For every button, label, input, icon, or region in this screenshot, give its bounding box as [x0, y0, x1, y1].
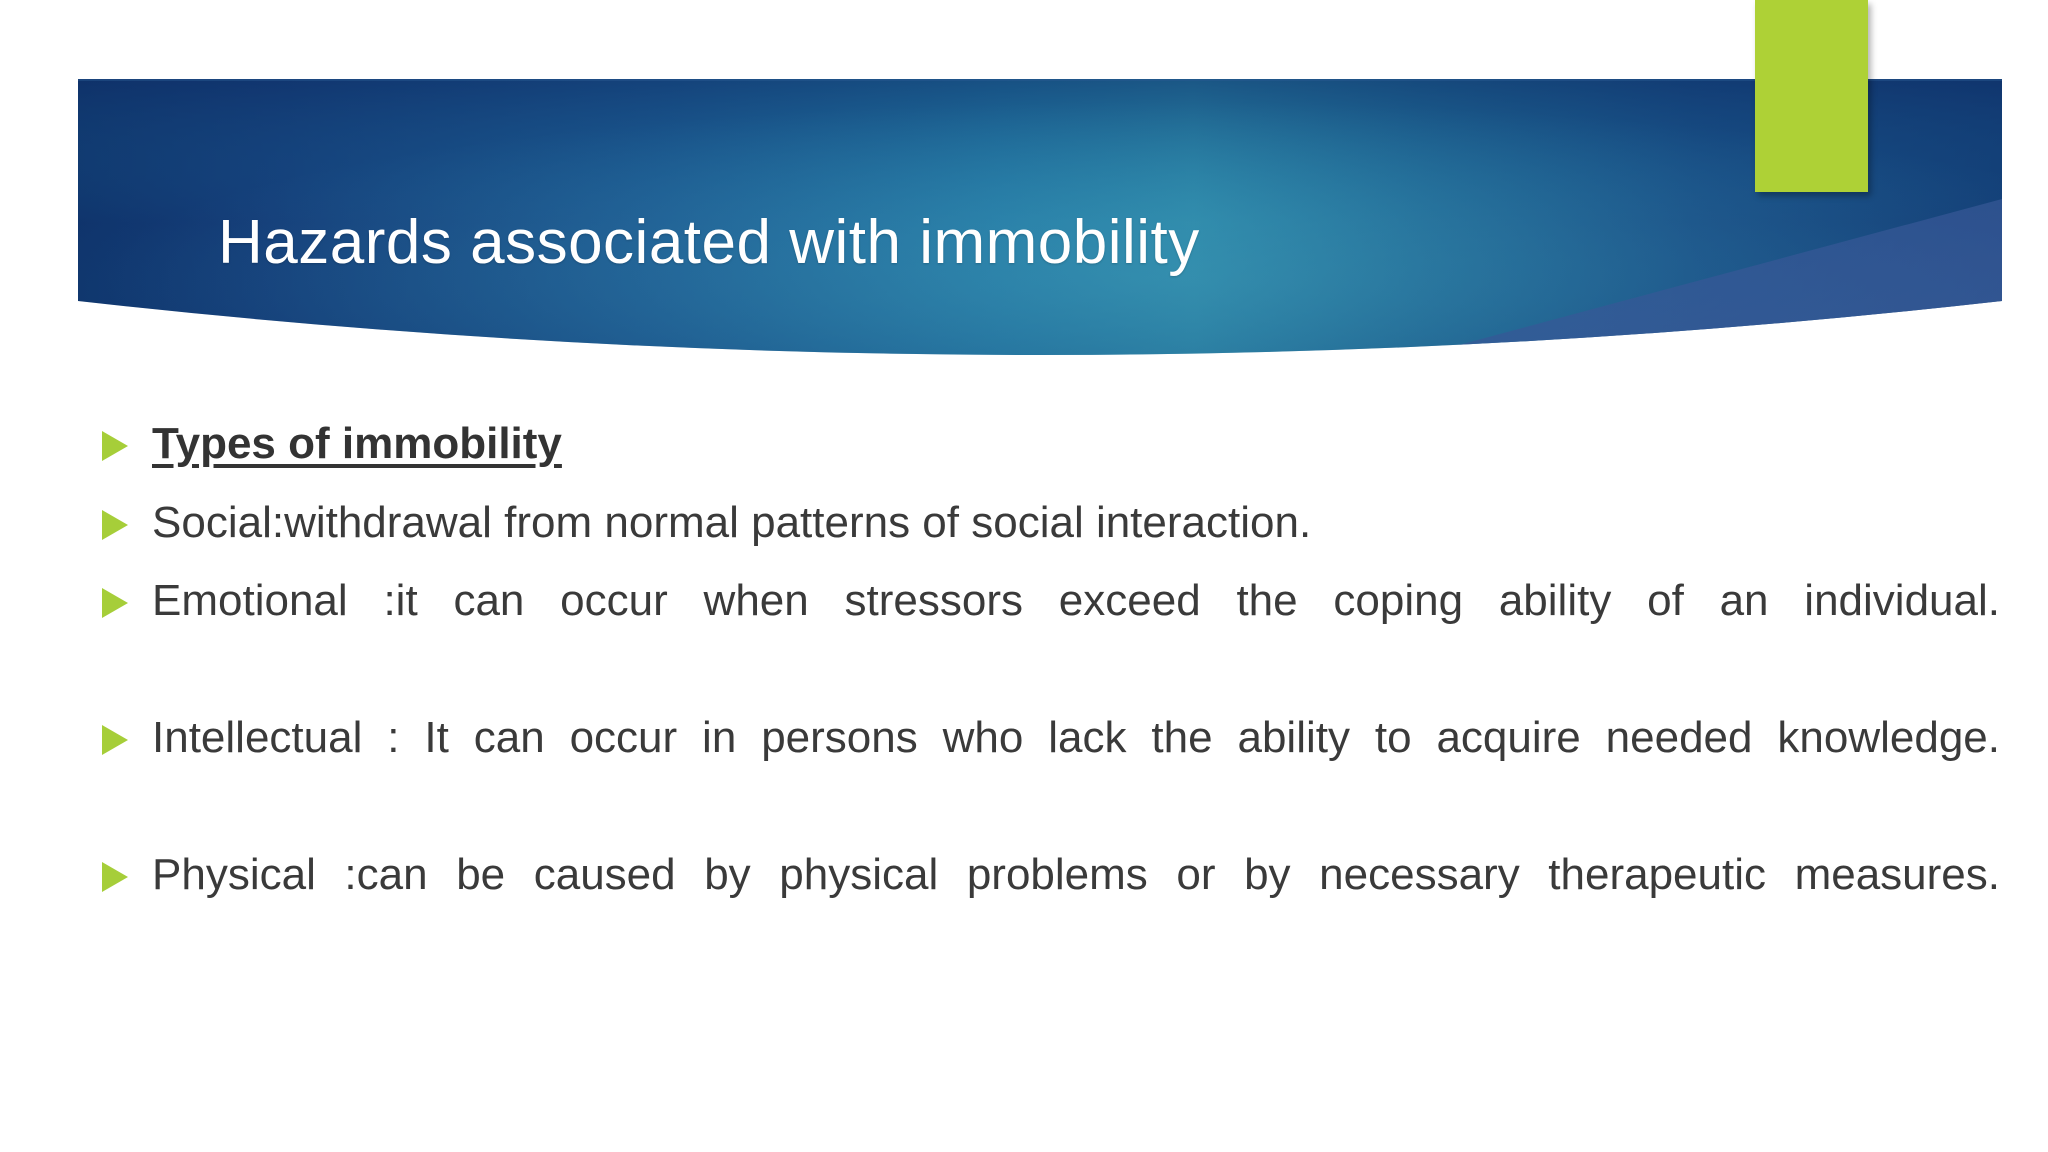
- list-item: Emotional :it can occur when stressors e…: [100, 572, 2000, 689]
- list-item: Social:withdrawal from normal patterns o…: [100, 494, 2000, 553]
- green-triangle-bullet-icon: [100, 494, 152, 542]
- presentation-slide: Hazards associated with immobility Types…: [0, 0, 2048, 1152]
- green-triangle-bullet-icon: [100, 415, 152, 463]
- title-banner-shape: Hazards associated with immobility: [78, 79, 2002, 389]
- list-item-text: Emotional :it can occur when stressors e…: [152, 572, 2000, 689]
- bullet-list: Types of immobility Social:withdrawal fr…: [100, 415, 2000, 983]
- slide-title: Hazards associated with immobility: [218, 207, 1778, 278]
- green-triangle-bullet-icon: [100, 709, 152, 757]
- list-item-text: Types of immobility: [152, 415, 2000, 474]
- list-item: Intellectual : It can occur in persons w…: [100, 709, 2000, 826]
- green-triangle-bullet-icon: [100, 846, 152, 894]
- list-item: Physical :can be caused by physical prob…: [100, 846, 2000, 963]
- green-accent-bar: [1755, 0, 1868, 192]
- list-item-text: Intellectual : It can occur in persons w…: [152, 709, 2000, 826]
- green-triangle-bullet-icon: [100, 572, 152, 620]
- list-item-text: Social:withdrawal from normal patterns o…: [152, 494, 2000, 553]
- list-item-text: Physical :can be caused by physical prob…: [152, 846, 2000, 963]
- list-item: Types of immobility: [100, 415, 2000, 474]
